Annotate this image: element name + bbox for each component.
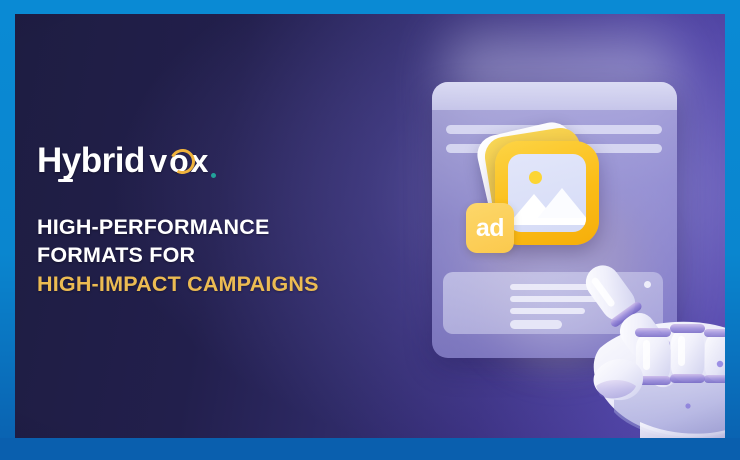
vox-logo-dot-icon bbox=[211, 173, 216, 178]
mountain-base bbox=[508, 218, 586, 225]
headline: HIGH-PERFORMANCE FORMATS FOR HIGH-IMPACT… bbox=[37, 213, 417, 298]
hybrid-logo: Hybrid bbox=[37, 143, 145, 182]
image-icon-inner bbox=[508, 154, 586, 232]
illustration: ad bbox=[415, 14, 725, 438]
text-column: Hybrid vox HIGH-PERFORMANCE FORMATS FOR … bbox=[37, 124, 417, 298]
ad-badge: ad bbox=[466, 203, 514, 253]
sun-icon bbox=[529, 171, 542, 184]
promo-banner: Hybrid vox HIGH-PERFORMANCE FORMATS FOR … bbox=[0, 0, 740, 460]
headline-line-2: FORMATS FOR bbox=[37, 241, 417, 269]
banner-border-bottom bbox=[0, 438, 740, 460]
headline-line-1: HIGH-PERFORMANCE bbox=[37, 213, 417, 241]
hybrid-logo-text: Hybrid bbox=[37, 141, 145, 180]
banner-stage: Hybrid vox HIGH-PERFORMANCE FORMATS FOR … bbox=[15, 14, 725, 438]
robot-hand bbox=[570, 236, 725, 438]
card-header-bar bbox=[432, 82, 677, 110]
ad-badge-label: ad bbox=[476, 216, 504, 241]
hybrid-logo-underline bbox=[58, 179, 73, 182]
vox-logo: vox bbox=[149, 145, 210, 179]
headline-line-3: HIGH-IMPACT CAMPAIGNS bbox=[37, 270, 417, 298]
mountain-shape bbox=[536, 188, 586, 220]
ad-row-text-line bbox=[510, 320, 562, 329]
